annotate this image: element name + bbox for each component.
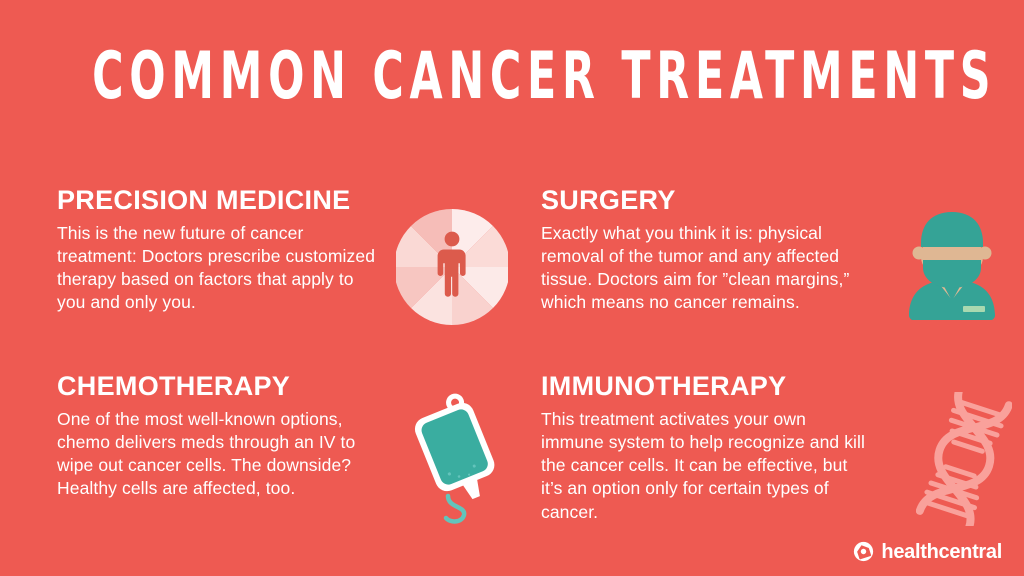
card-heading-immunotherapy: IMMUNOTHERAPY: [541, 372, 871, 402]
card-heading-chemotherapy: CHEMOTHERAPY: [57, 372, 387, 402]
card-body-chemotherapy: One of the most well-known options, chem…: [57, 408, 387, 501]
card-chemotherapy: CHEMOTHERAPY One of the most well-known …: [57, 372, 387, 501]
iv-bag-icon: [406, 392, 516, 526]
card-body-immunotherapy: This treatment activates your own immune…: [541, 408, 871, 524]
card-body-precision-medicine: This is the new future of cancer treatme…: [57, 222, 387, 315]
precision-medicine-icon: [396, 206, 508, 328]
healthcentral-logo[interactable]: healthcentral: [853, 541, 1002, 562]
card-immunotherapy: IMMUNOTHERAPY This treatment activates y…: [541, 372, 871, 524]
card-surgery: SURGERY Exactly what you think it is: ph…: [541, 186, 871, 315]
card-precision-medicine: PRECISION MEDICINE This is the new futur…: [57, 186, 387, 315]
card-heading-precision-medicine: PRECISION MEDICINE: [57, 186, 387, 216]
surgeon-icon: [901, 206, 1003, 328]
infographic-canvas: COMMON CANCER TREATMENTS PRECISION MEDIC…: [0, 0, 1024, 576]
page-title: COMMON CANCER TREATMENTS: [92, 42, 932, 110]
logo-wordmark: healthcentral: [881, 542, 1002, 562]
dna-helix-icon: [916, 392, 1012, 526]
card-heading-surgery: SURGERY: [541, 186, 871, 216]
healthcentral-logo-mark: [853, 541, 874, 562]
card-body-surgery: Exactly what you think it is: physical r…: [541, 222, 871, 315]
